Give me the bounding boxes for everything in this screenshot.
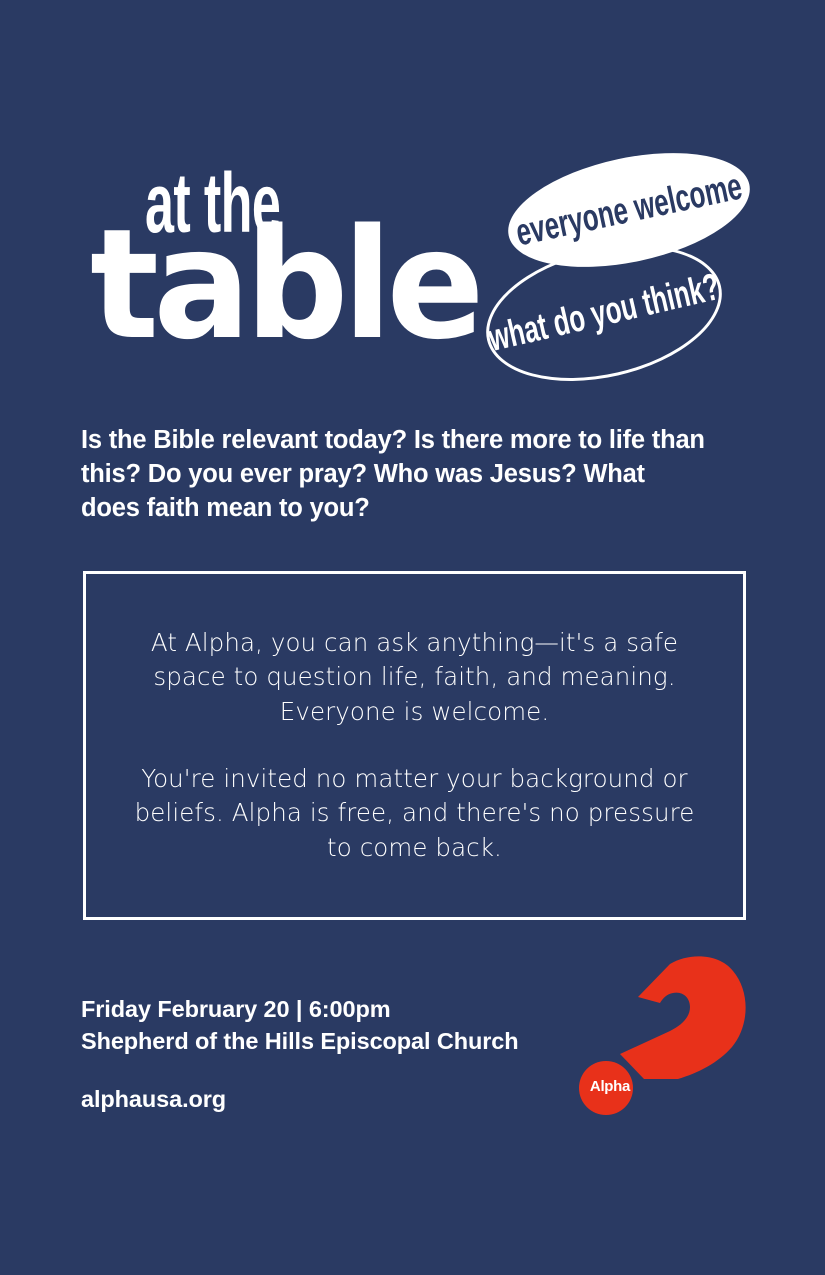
event-details: Friday February 20 | 6:00pm Shepherd of … (81, 993, 541, 1115)
alpha-logo (578, 955, 753, 1120)
lead-questions: Is the Bible relevant today? Is there mo… (81, 424, 706, 526)
event-website-link[interactable]: alphausa.org (81, 1083, 541, 1115)
wordmark-line-table: table (90, 217, 479, 354)
alpha-question-mark-icon (578, 955, 753, 1120)
poster: at the table everyone welcome what do yo… (0, 0, 825, 1275)
event-venue: Shepherd of the Hills Episcopal Church (81, 1025, 541, 1057)
info-box-paragraph-1: At Alpha, you can ask anything—it's a sa… (142, 626, 687, 729)
info-box-paragraph-2: You're invited no matter your background… (120, 762, 710, 865)
info-box: At Alpha, you can ask anything—it's a sa… (83, 571, 746, 920)
alpha-logo-dot (579, 1061, 633, 1115)
event-datetime: Friday February 20 | 6:00pm (81, 993, 541, 1025)
